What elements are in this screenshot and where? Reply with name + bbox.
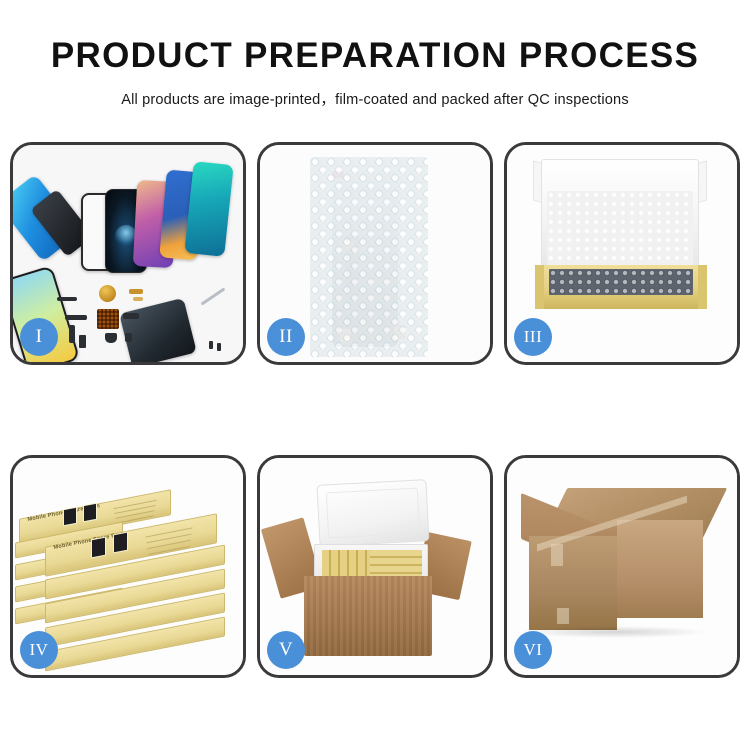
connector-array-part bbox=[97, 309, 119, 329]
carton-body bbox=[304, 576, 432, 656]
tray-side-right bbox=[698, 265, 707, 309]
step-panel-1[interactable]: I bbox=[10, 142, 246, 365]
step-badge-5: V bbox=[267, 631, 305, 669]
sim-tray-part bbox=[79, 335, 86, 348]
carton-seam-tape-left bbox=[551, 544, 563, 566]
retail-box-window-1a bbox=[63, 507, 77, 527]
flex-cable-part-1 bbox=[65, 315, 87, 320]
step-6-image: VI bbox=[507, 458, 737, 675]
carton-seam-tape-bottom bbox=[557, 608, 569, 624]
camera-module-part bbox=[123, 313, 139, 319]
styrofoam-lid bbox=[316, 479, 429, 547]
step-5-image: V bbox=[260, 458, 490, 675]
retail-box-window-2b bbox=[113, 532, 128, 554]
step-badge-3: III bbox=[514, 318, 552, 356]
grey-bubble-filler bbox=[549, 269, 693, 295]
tray-side-left bbox=[535, 265, 544, 309]
flex-cable-gold-2 bbox=[133, 297, 143, 301]
step-2-image: II bbox=[260, 145, 490, 362]
carton-left-face bbox=[529, 536, 617, 630]
button-part-small bbox=[125, 333, 132, 342]
step-1-image: I bbox=[13, 145, 243, 362]
step-badge-4: IV bbox=[20, 631, 58, 669]
speaker-part-round bbox=[99, 285, 116, 302]
step-panel-5[interactable]: V bbox=[257, 455, 493, 678]
carton-drop-shadow bbox=[523, 626, 707, 638]
step-badge-2: II bbox=[267, 318, 305, 356]
screw-part-1 bbox=[209, 341, 213, 349]
product-preparation-infographic: PRODUCT PREPARATION PROCESS All products… bbox=[0, 0, 750, 750]
retail-box-window-2a bbox=[91, 537, 106, 559]
step-panel-3[interactable]: III bbox=[504, 142, 740, 365]
foam-sheet bbox=[547, 191, 693, 269]
carton-right-face bbox=[617, 520, 703, 618]
step-panel-4[interactable]: Mobile Phone Spare Parts Mobile Phone Sp… bbox=[10, 455, 246, 678]
step-badge-1: I bbox=[20, 318, 58, 356]
bubble-wrap-bag bbox=[310, 157, 428, 357]
step-4-image: Mobile Phone Spare Parts Mobile Phone Sp… bbox=[13, 458, 243, 675]
screw-part-2 bbox=[217, 343, 221, 351]
page-subtitle: All products are image-printed，film-coat… bbox=[0, 73, 750, 109]
header: PRODUCT PREPARATION PROCESS All products… bbox=[0, 0, 750, 109]
step-badge-6: VI bbox=[514, 631, 552, 669]
process-steps-grid: I II bbox=[10, 142, 740, 678]
step-panel-6[interactable]: VI bbox=[504, 455, 740, 678]
step-panel-2[interactable]: II bbox=[257, 142, 493, 365]
page-title: PRODUCT PREPARATION PROCESS bbox=[0, 0, 750, 73]
phone-screen-teal-wave bbox=[184, 161, 233, 257]
tweezers-tool bbox=[201, 287, 226, 305]
step-3-image: III bbox=[507, 145, 737, 362]
flex-cable-gold-1 bbox=[129, 289, 143, 294]
phone-rear-housing-open bbox=[119, 298, 197, 365]
flex-cable-part-2 bbox=[69, 325, 75, 343]
earpiece-mesh-part bbox=[57, 297, 77, 301]
bubble-wrap-texture bbox=[310, 157, 428, 357]
retail-box-window-1b bbox=[83, 503, 97, 523]
vibrator-motor-part bbox=[105, 333, 117, 343]
